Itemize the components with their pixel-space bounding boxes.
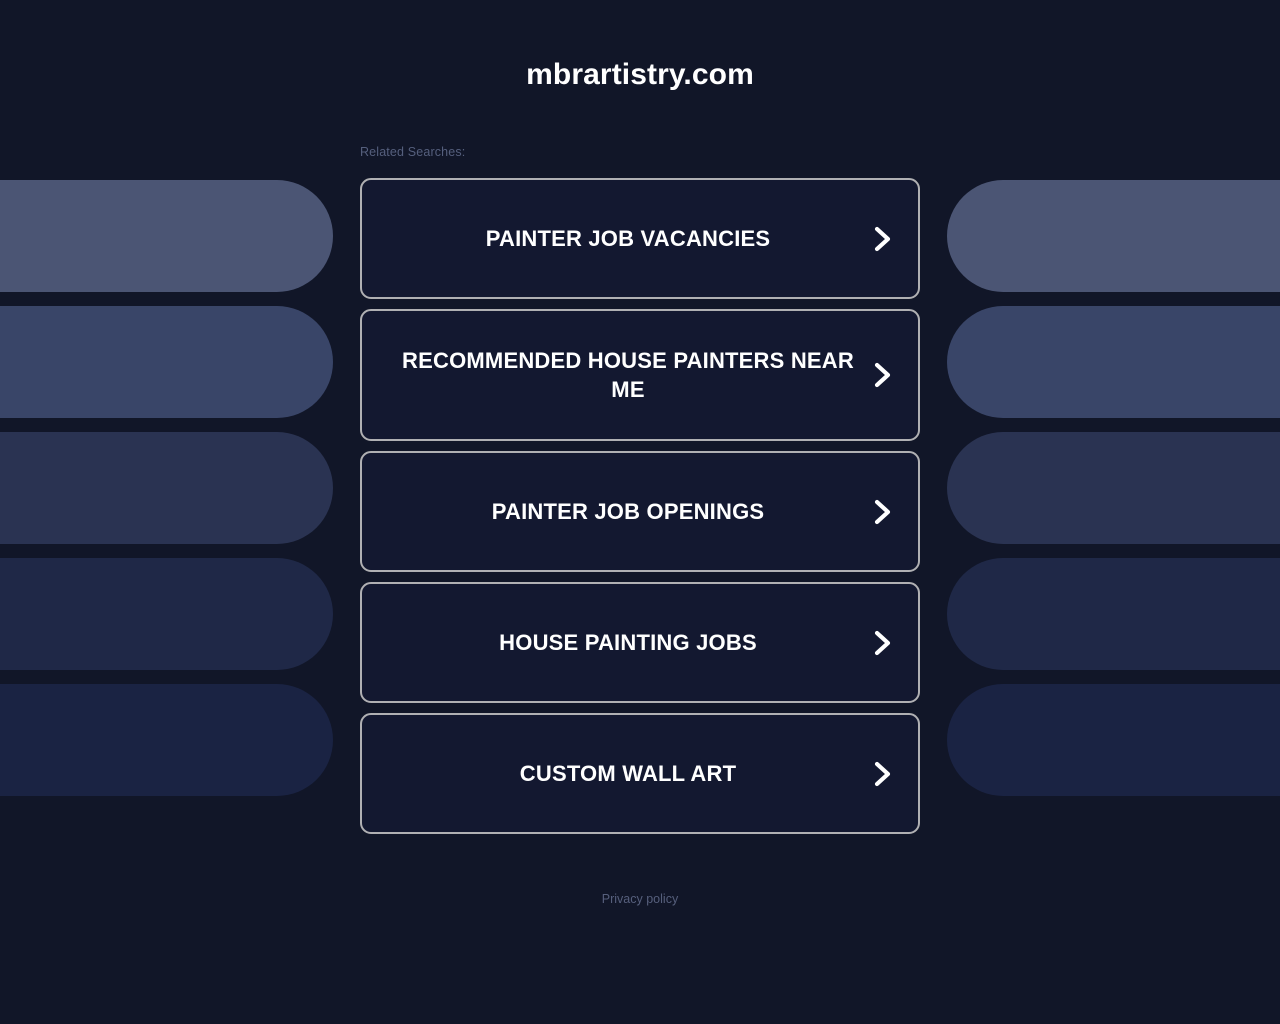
related-search-label: RECOMMENDED HOUSE PAINTERS NEAR ME xyxy=(402,346,854,404)
related-search-label: PAINTER JOB VACANCIES xyxy=(486,224,771,253)
chevron-right-icon xyxy=(872,759,894,789)
chevron-right-icon xyxy=(872,224,894,254)
chevron-right-icon xyxy=(872,360,894,390)
parked-domain-page: mbrartistry.com Related Searches: PAINTE… xyxy=(0,0,1280,1024)
related-search-label: CUSTOM WALL ART xyxy=(520,759,736,788)
related-search-button[interactable]: PAINTER JOB OPENINGS xyxy=(360,451,920,572)
chevron-right-icon xyxy=(872,497,894,527)
related-search-button-inner: PAINTER JOB VACANCIES xyxy=(362,180,918,297)
chevron-right-icon xyxy=(872,628,894,658)
related-search-button-inner: CUSTOM WALL ART xyxy=(362,715,918,832)
related-search-button-inner: HOUSE PAINTING JOBS xyxy=(362,584,918,701)
related-search-button[interactable]: CUSTOM WALL ART xyxy=(360,713,920,834)
related-search-button-inner: RECOMMENDED HOUSE PAINTERS NEAR ME xyxy=(362,311,918,439)
page-title: mbrartistry.com xyxy=(0,58,1280,92)
privacy-policy-link[interactable]: Privacy policy xyxy=(602,892,678,906)
related-search-label: PAINTER JOB OPENINGS xyxy=(492,497,765,526)
footer: Privacy policy xyxy=(0,890,1280,908)
related-search-button[interactable]: RECOMMENDED HOUSE PAINTERS NEAR ME xyxy=(360,309,920,441)
related-searches-list: PAINTER JOB VACANCIESRECOMMENDED HOUSE P… xyxy=(360,178,920,844)
related-search-label: HOUSE PAINTING JOBS xyxy=(499,628,757,657)
related-search-button[interactable]: PAINTER JOB VACANCIES xyxy=(360,178,920,299)
related-search-button-inner: PAINTER JOB OPENINGS xyxy=(362,453,918,570)
related-searches-label: Related Searches: xyxy=(360,145,465,159)
related-search-button[interactable]: HOUSE PAINTING JOBS xyxy=(360,582,920,703)
